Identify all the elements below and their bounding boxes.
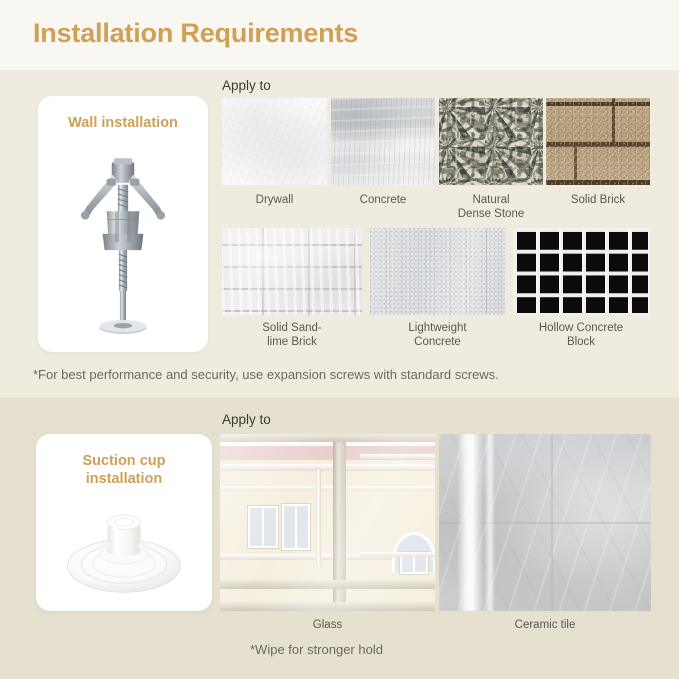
- suction-cup-icon: [36, 496, 212, 603]
- caption-line-2: Dense Stone: [431, 207, 551, 221]
- swatch-natural-dense-stone[interactable]: [439, 98, 543, 185]
- tile-highlight-streak: [457, 434, 483, 611]
- swatch-lightweight-concrete[interactable]: [370, 228, 505, 315]
- caption-natural-dense-stone: Natural Dense Stone: [431, 193, 551, 222]
- glass-reflection: [220, 434, 435, 611]
- card-suction-title: Suction cup installation: [36, 452, 212, 488]
- apply-to-label-wall: Apply to: [222, 78, 271, 93]
- footnote-wall-installation: *For best performance and security, use …: [33, 367, 499, 382]
- swatch-sand-lime-brick[interactable]: [222, 228, 362, 315]
- swatch-hollow-concrete-block[interactable]: [513, 228, 650, 315]
- caption-ceramic-tile: Ceramic tile: [439, 618, 651, 632]
- installation-requirements-page: Installation Requirements Wall installat…: [0, 0, 679, 679]
- expansion-anchor-bolt-icon: [38, 148, 208, 342]
- caption-hollow-concrete-block: Hollow Concrete Block: [505, 321, 657, 350]
- card-suction-cup-installation[interactable]: Suction cup installation: [36, 434, 212, 611]
- caption-sand-lime-brick: Solid Sand- lime Brick: [222, 321, 362, 350]
- footnote-suction-cup-installation: *Wipe for stronger hold: [250, 642, 383, 657]
- swatch-ceramic-tile[interactable]: [439, 434, 651, 611]
- apply-to-label-suction: Apply to: [222, 412, 271, 427]
- caption-line-2: Concrete: [370, 335, 505, 349]
- caption-line-1: Solid Sand-: [222, 321, 362, 335]
- caption-solid-brick: Solid Brick: [546, 193, 650, 207]
- swatch-drywall[interactable]: [222, 98, 327, 185]
- caption-concrete: Concrete: [331, 193, 435, 207]
- card-suction-title-line-1: Suction cup: [36, 452, 212, 470]
- card-suction-title-line-2: installation: [36, 470, 212, 488]
- caption-line-2: lime Brick: [222, 335, 362, 349]
- page-header: Installation Requirements: [0, 0, 679, 70]
- swatch-solid-brick[interactable]: [546, 98, 650, 185]
- card-wall-installation[interactable]: Wall installation: [38, 96, 208, 352]
- card-wall-title: Wall installation: [38, 114, 208, 132]
- page-title: Installation Requirements: [33, 18, 358, 49]
- caption-lightweight-concrete: Lightweight Concrete: [370, 321, 505, 350]
- caption-line-1: Natural: [431, 193, 551, 207]
- swatch-glass[interactable]: [220, 434, 435, 611]
- caption-line-1: Lightweight: [370, 321, 505, 335]
- tile-highlight-streak-2: [485, 434, 495, 611]
- swatch-concrete[interactable]: [331, 98, 435, 185]
- caption-drywall: Drywall: [222, 193, 327, 207]
- caption-glass: Glass: [220, 618, 435, 632]
- caption-line-2: Block: [505, 335, 657, 349]
- caption-line-1: Hollow Concrete: [505, 321, 657, 335]
